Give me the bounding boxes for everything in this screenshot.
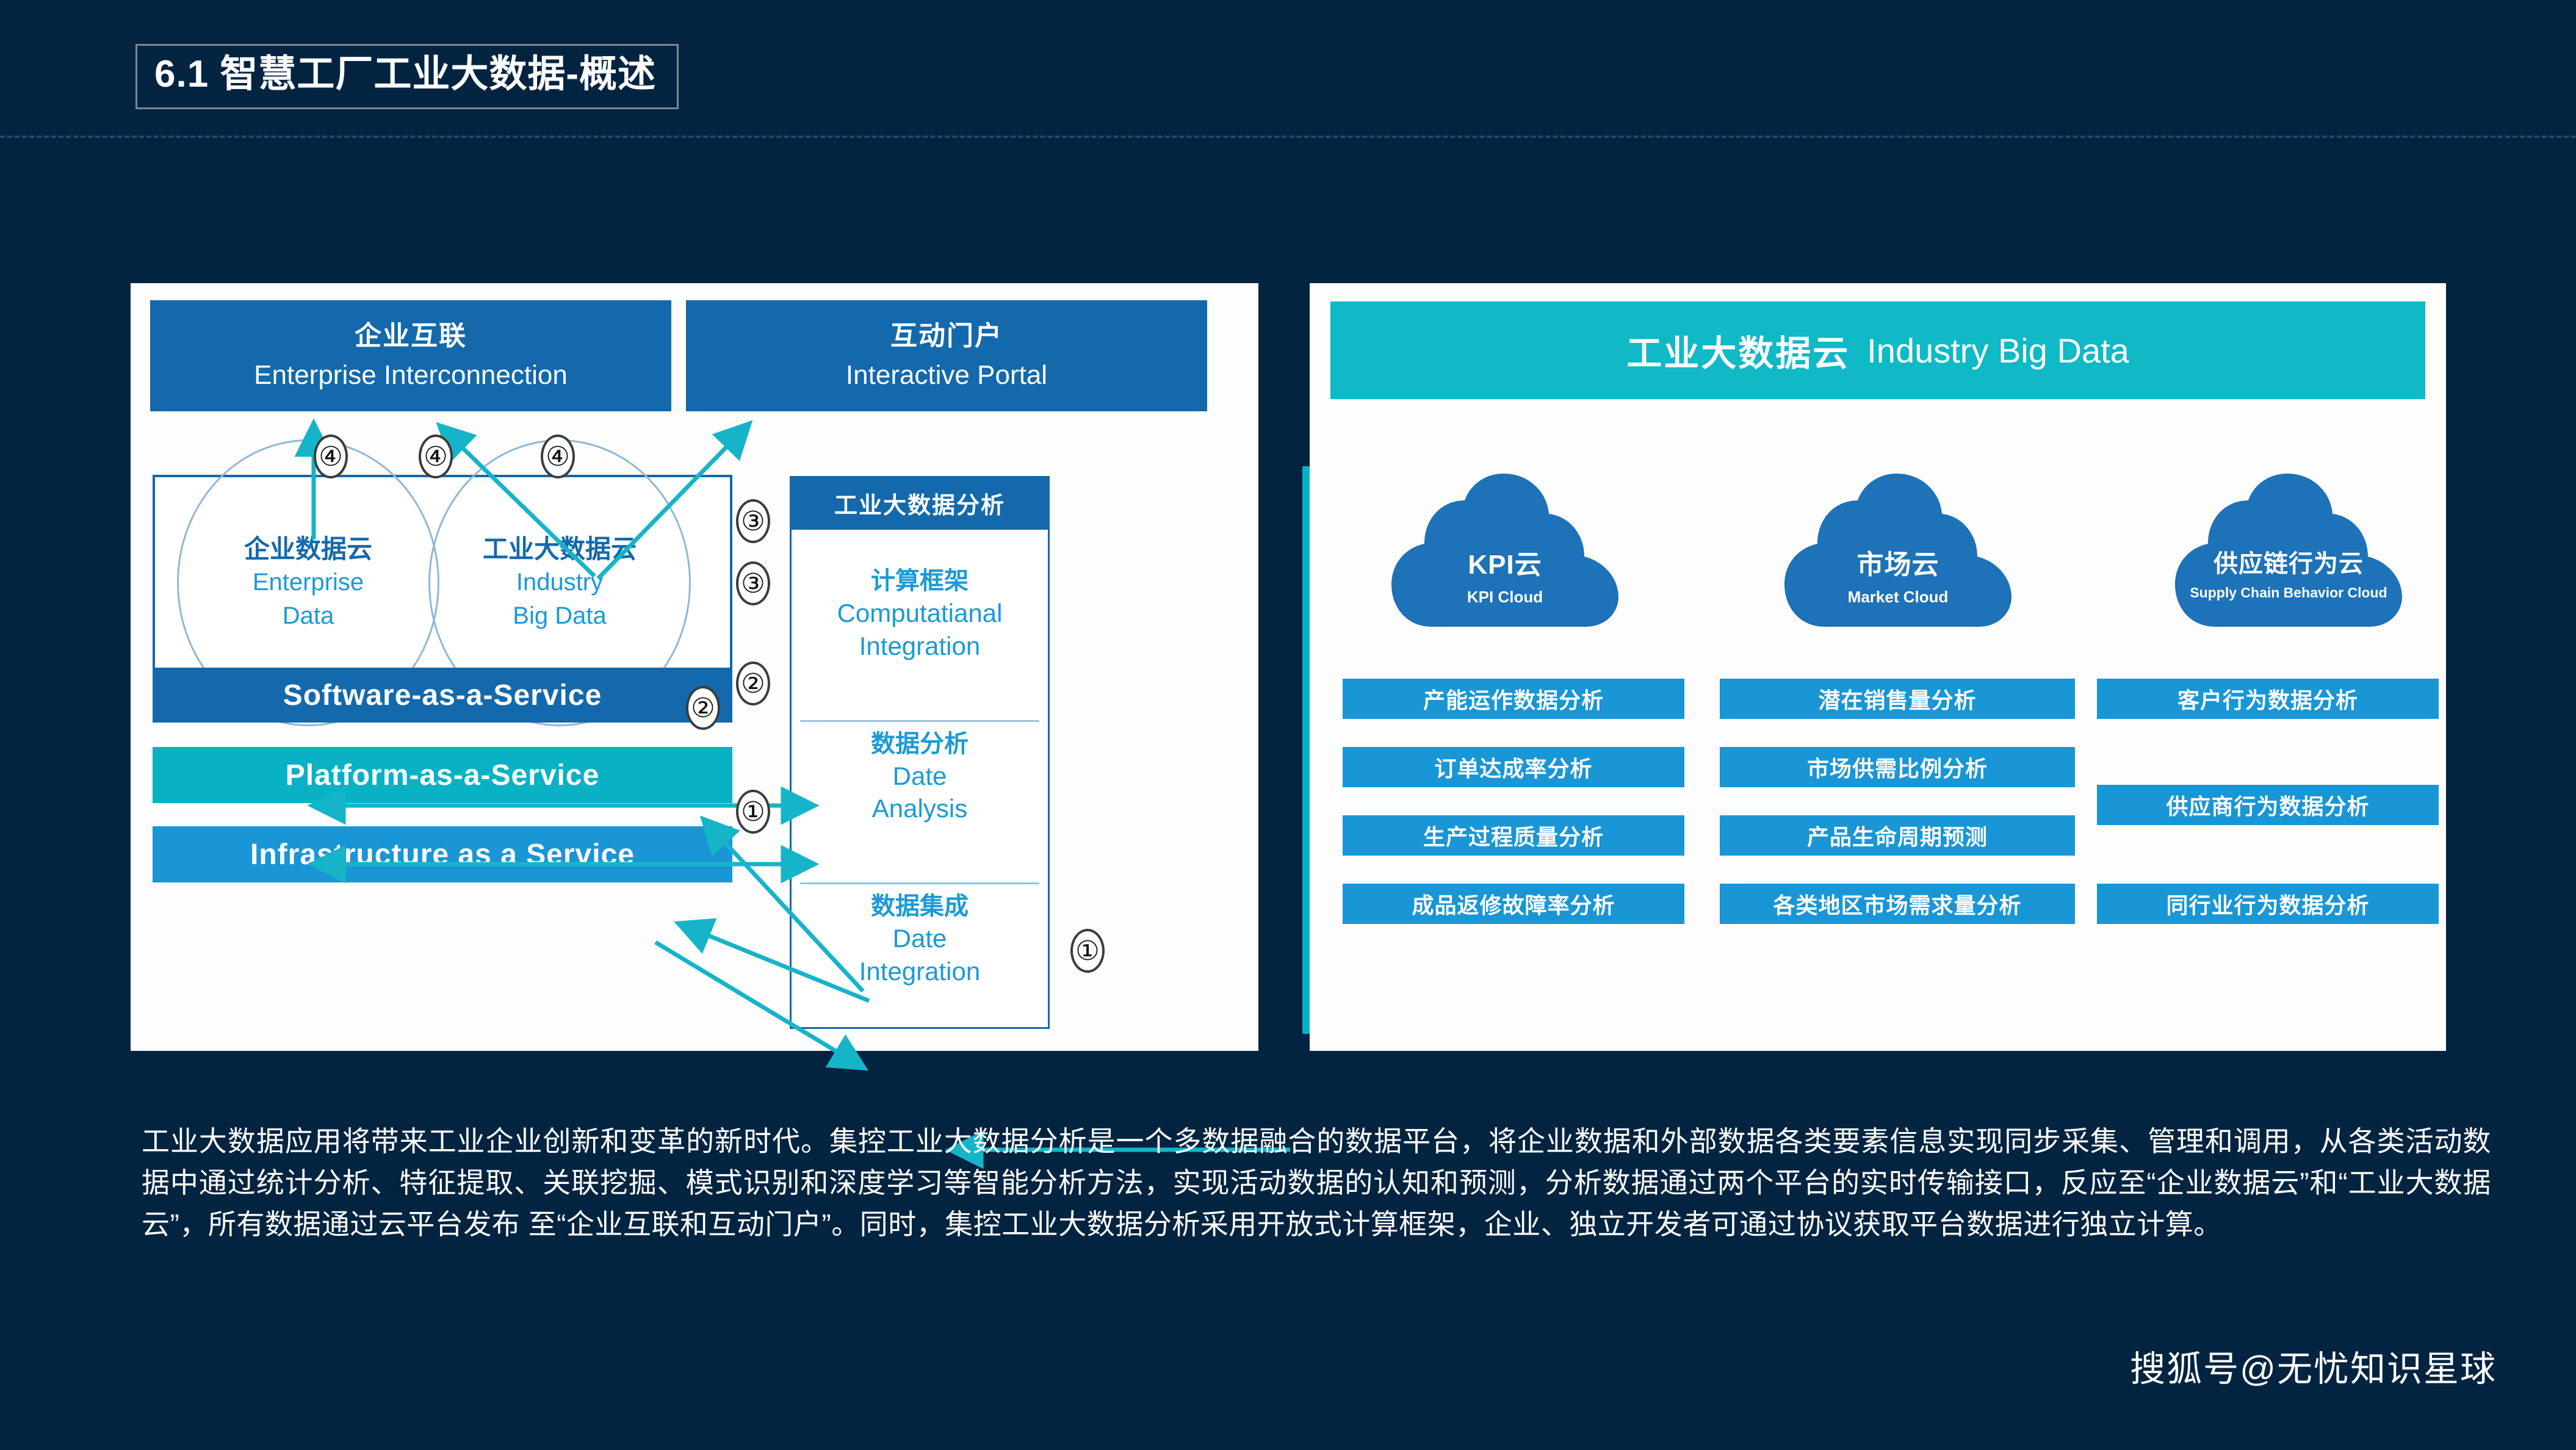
kpi-cloud-cn: KPI云	[1389, 549, 1621, 582]
market-cloud-en: Market Cloud	[1782, 588, 2014, 607]
supply-chain-cloud-cn: 供应链行为云	[2173, 549, 2405, 579]
title-divider	[0, 135, 2576, 138]
layer-saas-label: Software-as-a-Service	[283, 679, 602, 712]
analysis-data-analysis-en-1: Date	[800, 760, 1039, 793]
marker-2-a: ②	[736, 662, 770, 705]
enterprise-data-cloud-en-2: Data	[283, 601, 334, 632]
analysis-section-date-analysis[interactable]: 数据分析 Date Analysis	[800, 720, 1039, 832]
cloud-header-cn: 工业大数据云	[1626, 325, 1850, 376]
enterprise-data-cloud-en-1: Enterprise	[253, 567, 364, 598]
layer-iaas-label: Infrastructure as a Service	[250, 838, 635, 871]
marker-4-a: ④	[314, 435, 348, 478]
industry-big-data-cloud-en-1: Industry	[516, 567, 603, 598]
left-architecture-panel: 企业互联 Enterprise Interconnection 互动门户 Int…	[131, 283, 1258, 1051]
analysis-chip[interactable]: 生产过程质量分析	[1343, 815, 1684, 856]
analysis-data-integration-cn: 数据集成	[800, 890, 1039, 922]
big-data-analysis-body: 计算框架 Computatianal Integration 数据分析 Date…	[792, 530, 1048, 1027]
layer-paas-label: Platform-as-a-Service	[286, 759, 600, 792]
layer-infrastructure-as-a-service[interactable]: Infrastructure as a Service	[153, 826, 732, 882]
kpi-cloud[interactable]: KPI云 KPI Cloud	[1389, 471, 1621, 630]
analysis-computational-cn: 计算框架	[800, 565, 1039, 597]
layer-platform-as-a-service[interactable]: Platform-as-a-Service	[153, 747, 732, 803]
analysis-section-computational[interactable]: 计算框架 Computatianal Integration	[800, 559, 1039, 669]
analysis-computational-en-1: Computatianal	[800, 597, 1039, 630]
marker-1-a: ①	[736, 790, 770, 834]
interactive-portal-en: Interactive Portal	[846, 358, 1047, 392]
analysis-computational-en-2: Integration	[800, 630, 1039, 663]
layer-software-as-a-service[interactable]: Software-as-a-Service	[153, 668, 732, 723]
analysis-chip[interactable]: 同行业行为数据分析	[2097, 884, 2439, 924]
industry-big-data-cloud-cn: 工业大数据云	[483, 534, 637, 564]
enterprise-interconnection-cn: 企业互联	[355, 319, 467, 353]
analysis-data-analysis-cn: 数据分析	[800, 728, 1039, 760]
marker-3-b: ③	[736, 561, 770, 605]
analysis-chip[interactable]: 产能运作数据分析	[1343, 679, 1684, 719]
analysis-data-integration-en-1: Date	[800, 922, 1039, 955]
cloud-venn-container: 企业数据云 Enterprise Data 工业大数据云 Industry Bi…	[153, 475, 732, 669]
market-cloud-cn: 市场云	[1782, 549, 2014, 582]
interactive-portal-box[interactable]: 互动门户 Interactive Portal	[686, 300, 1207, 411]
analysis-chip[interactable]: 产品生命周期预测	[1720, 815, 2075, 856]
slide-canvas: 6.1 智慧工厂工业大数据-概述 企业互联 Enterprise Interco…	[0, 0, 2576, 1450]
right-cloud-panel: 工业大数据云 Industry Big Data KPI云 KPI Cloud …	[1310, 283, 2446, 1051]
enterprise-interconnection-en: Enterprise Interconnection	[254, 358, 568, 392]
marker-4-b: ④	[419, 435, 453, 478]
marker-3-a: ③	[736, 499, 770, 543]
supply-chain-cloud-en: Supply Chain Behavior Cloud	[2173, 585, 2405, 601]
market-cloud-label: 市场云 Market Cloud	[1782, 549, 2014, 607]
market-cloud[interactable]: 市场云 Market Cloud	[1782, 471, 2014, 630]
big-data-analysis-header: 工业大数据分析	[792, 478, 1048, 530]
analysis-chip[interactable]: 成品返修故障率分析	[1343, 884, 1684, 924]
analysis-chip[interactable]: 客户行为数据分析	[2097, 679, 2439, 719]
enterprise-data-cloud-cn: 企业数据云	[244, 534, 372, 564]
page-title-box: 6.1 智慧工厂工业大数据-概述	[135, 44, 679, 109]
analysis-chip[interactable]: 供应商行为数据分析	[2097, 785, 2439, 825]
big-data-analysis-card: 工业大数据分析 计算框架 Computatianal Integration 数…	[790, 476, 1050, 1029]
watermark: 搜狐号@无忧知识星球	[2130, 1340, 2497, 1391]
marker-4-c: ④	[541, 435, 575, 478]
marker-2-b: ②	[686, 686, 720, 730]
kpi-cloud-en: KPI Cloud	[1389, 588, 1621, 607]
supply-chain-cloud-label: 供应链行为云 Supply Chain Behavior Cloud	[2173, 549, 2405, 601]
analysis-section-date-integration[interactable]: 数据集成 Date Integration	[800, 882, 1039, 994]
industry-big-data-cloud-header: 工业大数据云 Industry Big Data	[1330, 301, 2425, 399]
analysis-chip[interactable]: 订单达成率分析	[1343, 747, 1684, 787]
kpi-cloud-label: KPI云 KPI Cloud	[1389, 549, 1621, 607]
summary-paragraph: 工业大数据应用将带来工业企业创新和变革的新时代。集控工业大数据分析是一个多数据融…	[142, 1120, 2491, 1245]
enterprise-interconnection-box[interactable]: 企业互联 Enterprise Interconnection	[150, 300, 671, 411]
industry-big-data-cloud-en-2: Big Data	[513, 601, 606, 632]
analysis-data-integration-en-2: Integration	[800, 955, 1039, 988]
analysis-data-analysis-en-2: Analysis	[800, 792, 1039, 825]
analysis-chip[interactable]: 各类地区市场需求量分析	[1720, 884, 2075, 924]
analysis-chip[interactable]: 潜在销售量分析	[1720, 679, 2075, 719]
cloud-header-en: Industry Big Data	[1867, 331, 2129, 370]
supply-chain-behavior-cloud[interactable]: 供应链行为云 Supply Chain Behavior Cloud	[2173, 471, 2405, 630]
interactive-portal-cn: 互动门户	[890, 319, 1003, 353]
page-title: 6.1 智慧工厂工业大数据-概述	[154, 54, 656, 94]
marker-1-b: ①	[1070, 929, 1105, 973]
analysis-chip[interactable]: 市场供需比例分析	[1720, 747, 2075, 787]
